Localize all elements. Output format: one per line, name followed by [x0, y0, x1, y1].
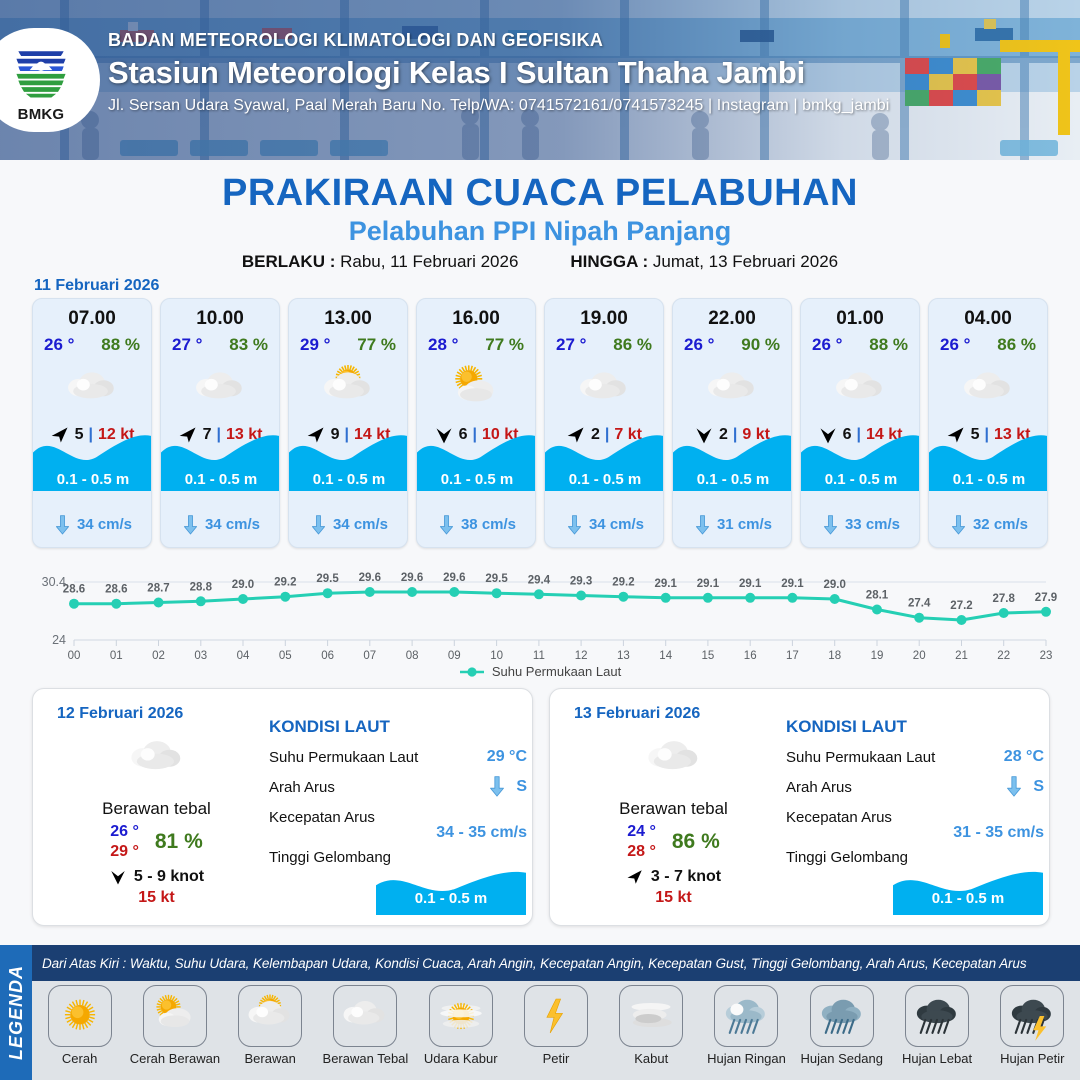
card-humidity: 88 %	[101, 335, 140, 355]
forecast-card: 13.00 29 ° 77 % 9 | 14 kt 0.1 - 0.5 m	[288, 298, 408, 548]
header-text-block: BADAN METEOROLOGI KLIMATOLOGI DAN GEOFIS…	[108, 30, 1068, 115]
legend-items-row: Cerah Cerah Berawan Berawan Berawan Teba…	[32, 985, 1080, 1066]
card-weather-icon-wrap	[673, 361, 791, 417]
chart-point-label: 29.5	[485, 573, 508, 585]
chart-point	[661, 593, 671, 603]
legend-side-label: LEGENDA	[6, 965, 27, 1060]
legend-item: Udara Kabur	[415, 985, 507, 1066]
bmkg-logo-text: BMKG	[5, 106, 77, 123]
chart-x-tick-label: 16	[744, 650, 757, 662]
card-current-speed: 34 cm/s	[589, 516, 644, 533]
summary-condition: Berawan tebal	[566, 799, 781, 819]
legend-icon-chip	[905, 985, 969, 1047]
card-current-speed: 38 cm/s	[461, 516, 516, 533]
chart-point	[999, 608, 1009, 618]
chart-point-label: 27.4	[908, 598, 931, 610]
summary-temp-max: 28 °	[627, 842, 656, 862]
card-time: 16.00	[417, 308, 535, 330]
berlaku-label: BERLAKU :	[242, 252, 336, 271]
current-direction-down-arrow-icon	[694, 515, 711, 535]
summary-weather-icon-wrap	[49, 731, 264, 787]
summary-current-dir-value: S	[1033, 778, 1044, 796]
card-temperature: 26 °	[44, 335, 74, 355]
chart-x-tick-label: 09	[448, 650, 461, 662]
card-humidity: 86 %	[613, 335, 652, 355]
summary-date: 12 Februari 2026	[57, 705, 183, 723]
summary-wave-value: 0.1 - 0.5 m	[893, 890, 1043, 907]
chart-x-tick-label: 13	[617, 650, 630, 662]
chart-x-tick-label: 10	[490, 650, 503, 662]
chart-point-label: 27.9	[1035, 592, 1057, 604]
berlaku-group: BERLAKU : Rabu, 11 Februari 2026	[242, 252, 519, 272]
hujan-petir-icon	[1006, 990, 1058, 1042]
chart-point	[830, 594, 840, 604]
chart-point-label: 29.4	[528, 574, 551, 586]
card-wave-height: 0.1 - 0.5 m	[929, 471, 1048, 488]
legend-item-label: Hujan Lebat	[891, 1051, 983, 1066]
card-current: 34 cm/s	[33, 515, 152, 535]
summary-current-dir-row: Arah Arus S	[269, 772, 527, 802]
summary-sst-row: Suhu Permukaan Laut 28 °C	[786, 742, 1044, 772]
card-weather-icon-wrap	[545, 361, 663, 417]
hingga-group: HINGGA : Jumat, 13 Februari 2026	[570, 252, 838, 272]
summary-sst-row: Suhu Permukaan Laut 29 °C	[269, 742, 527, 772]
hingga-value: Jumat, 13 Februari 2026	[653, 252, 838, 271]
day-summary-panel: 13 Februari 2026 Berawan tebal 24 ° 28 °…	[549, 688, 1050, 926]
chart-x-tick-label: 06	[321, 650, 334, 662]
chart-point-label: 29.0	[232, 579, 254, 591]
chart-point-label: 29.2	[274, 577, 296, 589]
berawan-tebal-icon	[63, 360, 121, 418]
chart-point	[576, 591, 586, 601]
chart-point	[154, 598, 164, 608]
current-direction-down-arrow-icon	[310, 515, 327, 535]
legend-icon-chip	[429, 985, 493, 1047]
summary-current-dir-value-wrap: S	[1005, 776, 1044, 798]
legend-item-label: Cerah	[34, 1051, 126, 1066]
chart-x-tick-label: 07	[363, 650, 376, 662]
card-weather-icon-wrap	[929, 361, 1047, 417]
kabut-icon	[625, 990, 677, 1042]
card-time: 01.00	[801, 308, 919, 330]
card-temp-humidity: 27 ° 86 %	[545, 335, 663, 355]
legend-side-banner: LEGENDA	[0, 945, 32, 1080]
berawan-tebal-icon	[126, 728, 188, 790]
card-wave-height: 0.1 - 0.5 m	[161, 471, 280, 488]
legend-item: Kabut	[605, 985, 697, 1066]
legend-item: Hujan Petir	[986, 985, 1078, 1066]
current-direction-down-arrow-icon	[54, 515, 71, 535]
summary-current-dir-value-wrap: S	[488, 776, 527, 798]
forecast-card: 19.00 27 ° 86 % 2 | 7 kt 0.1 - 0.5 m	[544, 298, 664, 548]
chart-legend-label: Suhu Permukaan Laut	[492, 664, 621, 679]
chart-x-tick-label: 12	[575, 650, 588, 662]
chart-point	[914, 613, 924, 623]
chart-x-tick-label: 03	[194, 650, 207, 662]
chart-x-tick-label: 23	[1040, 650, 1053, 662]
card-current: 34 cm/s	[161, 515, 280, 535]
chart-point	[196, 596, 206, 606]
chart-point	[492, 588, 502, 598]
chart-point	[69, 599, 79, 609]
chart-x-tick-label: 15	[702, 650, 715, 662]
summary-temps: 26 ° 29 °	[110, 822, 139, 861]
validity-row: BERLAKU : Rabu, 11 Februari 2026 HINGGA …	[0, 252, 1080, 272]
card-humidity: 77 %	[485, 335, 524, 355]
summary-current-speed-value: 31 - 35 cm/s	[953, 824, 1044, 841]
summary-temp-max: 29 °	[110, 842, 139, 862]
card-current-speed: 34 cm/s	[205, 516, 260, 533]
summary-current-speed-value-wrap: 31 - 35 cm/s	[786, 824, 1044, 842]
card-weather-icon-wrap	[289, 361, 407, 417]
page-header: BMKG BADAN METEOROLOGI KLIMATOLOGI DAN G…	[0, 0, 1080, 160]
chart-x-tick-label: 21	[955, 650, 968, 662]
station-address: Jl. Sersan Udara Syawal, Paal Merah Baru…	[108, 97, 1068, 115]
berawan-tebal-icon	[575, 360, 633, 418]
summary-sst-label: Suhu Permukaan Laut	[269, 749, 418, 766]
chart-x-tick-label: 19	[871, 650, 884, 662]
summary-temps: 24 ° 28 °	[627, 822, 656, 861]
legend-item-label: Petir	[510, 1051, 602, 1066]
card-humidity: 83 %	[229, 335, 268, 355]
forecast-card: 01.00 26 ° 88 % 6 | 14 kt 0.1 - 0.5 m	[800, 298, 920, 548]
bmkg-logo: BMKG	[0, 28, 100, 132]
legend-item: Hujan Lebat	[891, 985, 983, 1066]
chart-point-label: 29.1	[655, 578, 678, 590]
legend-item-label: Hujan Ringan	[700, 1051, 792, 1066]
legend-icon-chip	[143, 985, 207, 1047]
card-temperature: 29 °	[300, 335, 330, 355]
chart-point-label: 28.8	[190, 581, 213, 593]
summary-current-dir-label: Arah Arus	[269, 779, 335, 796]
summary-current-dir-value: S	[516, 778, 527, 796]
summary-temp-min: 24 °	[627, 822, 656, 842]
chart-point-label: 28.6	[63, 584, 85, 596]
card-current: 33 cm/s	[801, 515, 920, 535]
card-temp-humidity: 26 ° 86 %	[929, 335, 1047, 355]
summary-wind-range: 5 - 9 knot	[134, 868, 204, 886]
card-wave-height: 0.1 - 0.5 m	[289, 471, 408, 488]
card-wave-height: 0.1 - 0.5 m	[545, 471, 664, 488]
summary-weather-icon-wrap	[566, 731, 781, 787]
card-temperature: 26 °	[812, 335, 842, 355]
chart-series-line	[74, 592, 1046, 620]
chart-x-tick-label: 00	[68, 650, 81, 662]
agency-name: BADAN METEOROLOGI KLIMATOLOGI DAN GEOFIS…	[108, 30, 1068, 51]
chart-point	[534, 589, 544, 599]
card-current-speed: 31 cm/s	[717, 516, 772, 533]
card-wave-height: 0.1 - 0.5 m	[417, 471, 536, 488]
hujan-lebat-icon	[911, 990, 963, 1042]
hingga-label: HINGGA :	[570, 252, 648, 271]
summary-current-speed-value-wrap: 34 - 35 cm/s	[269, 824, 527, 842]
card-temp-humidity: 28 ° 77 %	[417, 335, 535, 355]
card-weather-icon-wrap	[801, 361, 919, 417]
summary-gust: 15 kt	[49, 889, 264, 907]
chart-point	[365, 587, 375, 597]
chart-point	[745, 593, 755, 603]
chart-point	[787, 593, 797, 603]
summary-current-speed-label: Kecepatan Arus	[786, 809, 892, 826]
legend-item-label: Hujan Sedang	[796, 1051, 888, 1066]
summary-sea-block: KONDISI LAUT Suhu Permukaan Laut 28 °C A…	[786, 717, 1044, 872]
chart-x-tick-label: 01	[110, 650, 123, 662]
summary-current-speed-label: Kecepatan Arus	[269, 809, 375, 826]
forecast-date-label: 11 Februari 2026	[34, 277, 159, 295]
cerah-berawan-icon	[447, 360, 505, 418]
summary-wind: 3 - 7 knot	[566, 868, 781, 886]
chart-x-tick-label: 08	[406, 650, 419, 662]
current-direction-down-arrow-icon	[488, 776, 506, 798]
chart-point	[957, 615, 967, 625]
chart-point-label: 29.6	[401, 572, 423, 584]
summary-temp-min: 26 °	[110, 822, 139, 842]
berawan-icon	[244, 990, 296, 1042]
legend-item-label: Hujan Petir	[986, 1051, 1078, 1066]
legend-icon-chip	[524, 985, 588, 1047]
summary-sst-value: 29 °C	[487, 748, 527, 766]
legend-section: LEGENDA Dari Atas Kiri : Waktu, Suhu Uda…	[0, 945, 1080, 1080]
chart-x-tick-label: 22	[997, 650, 1010, 662]
chart-point-label: 27.2	[950, 600, 972, 612]
card-time: 04.00	[929, 308, 1047, 330]
card-current: 32 cm/s	[929, 515, 1048, 535]
card-time: 19.00	[545, 308, 663, 330]
summary-current-dir-row: Arah Arus S	[786, 772, 1044, 802]
card-humidity: 77 %	[357, 335, 396, 355]
current-direction-down-arrow-icon	[182, 515, 199, 535]
legend-note: Dari Atas Kiri : Waktu, Suhu Udara, Kele…	[32, 945, 1080, 981]
card-current: 34 cm/s	[545, 515, 664, 535]
station-name: Stasiun Meteorologi Kelas I Sultan Thaha…	[108, 55, 1068, 91]
wind-direction-arrow-ne-icon	[626, 868, 644, 886]
card-temp-humidity: 26 ° 90 %	[673, 335, 791, 355]
chart-legend: Suhu Permukaan Laut	[0, 664, 1080, 679]
current-direction-down-arrow-icon	[438, 515, 455, 535]
card-temp-humidity: 26 ° 88 %	[33, 335, 151, 355]
legend-item: Petir	[510, 985, 602, 1066]
chart-point-label: 29.5	[316, 573, 339, 585]
summary-wave-value: 0.1 - 0.5 m	[376, 890, 526, 907]
summary-wind: 5 - 9 knot	[49, 868, 264, 886]
legend-icon-chip	[714, 985, 778, 1047]
card-humidity: 86 %	[997, 335, 1036, 355]
chart-x-tick-label: 11	[533, 650, 545, 662]
card-temperature: 27 °	[556, 335, 586, 355]
chart-point	[407, 587, 417, 597]
current-direction-down-arrow-icon	[566, 515, 583, 535]
card-current-speed: 34 cm/s	[77, 516, 132, 533]
summary-current-speed-value: 34 - 35 cm/s	[436, 824, 527, 841]
summary-wind-range: 3 - 7 knot	[651, 868, 721, 886]
forecast-card: 07.00 26 ° 88 % 5 | 12 kt 0.1 - 0.5 m	[32, 298, 152, 548]
legend-marker-icon	[459, 666, 485, 678]
chart-point	[238, 594, 248, 604]
forecast-card-row: 07.00 26 ° 88 % 5 | 12 kt 0.1 - 0.5 m	[32, 298, 1050, 548]
chart-point-label: 29.1	[697, 578, 720, 590]
legend-icon-chip	[1000, 985, 1064, 1047]
chart-point-label: 29.1	[781, 578, 804, 590]
legend-icon-chip	[810, 985, 874, 1047]
summary-sea-title: KONDISI LAUT	[786, 717, 1044, 737]
summary-temp-humidity: 24 ° 28 ° 86 %	[566, 822, 781, 861]
summary-wave-label: Tinggi Gelombang	[786, 849, 908, 866]
berawan-tebal-icon	[191, 360, 249, 418]
summary-humidity: 86 %	[672, 830, 720, 854]
chart-point	[280, 592, 290, 602]
legend-icon-chip	[238, 985, 302, 1047]
card-current: 31 cm/s	[673, 515, 792, 535]
forecast-card: 16.00 28 ° 77 % 6 | 10 kt 0.1 - 0.5 m 38…	[416, 298, 536, 548]
chart-x-tick-label: 02	[152, 650, 165, 662]
card-humidity: 90 %	[741, 335, 780, 355]
legend-item: Cerah Berawan	[129, 985, 221, 1066]
summary-humidity: 81 %	[155, 830, 203, 854]
page-title: PRAKIRAAN CUACA PELABUHAN	[0, 172, 1080, 215]
chart-point-label: 29.3	[570, 576, 592, 588]
summary-condition: Berawan tebal	[49, 799, 264, 819]
card-weather-icon-wrap	[417, 361, 535, 417]
legend-item: Cerah	[34, 985, 126, 1066]
legend-item-label: Berawan	[224, 1051, 316, 1066]
card-time: 22.00	[673, 308, 791, 330]
summary-current-dir-label: Arah Arus	[786, 779, 852, 796]
day-summary-panel: 12 Februari 2026 Berawan tebal 26 ° 29 °…	[32, 688, 533, 926]
chart-point-label: 27.8	[993, 593, 1016, 605]
legend-icon-chip	[333, 985, 397, 1047]
forecast-card: 22.00 26 ° 90 % 2 | 9 kt 0.1 - 0.5 m	[672, 298, 792, 548]
cerah-berawan-icon	[149, 990, 201, 1042]
chart-point	[111, 599, 121, 609]
legend-item-label: Udara Kabur	[415, 1051, 507, 1066]
card-current-speed: 33 cm/s	[845, 516, 900, 533]
legend-item: Berawan	[224, 985, 316, 1066]
chart-x-tick-label: 18	[828, 650, 841, 662]
petir-icon	[530, 990, 582, 1042]
berawan-tebal-icon	[703, 360, 761, 418]
chart-point	[1041, 607, 1051, 617]
cerah-icon	[54, 990, 106, 1042]
berlaku-value: Rabu, 11 Februari 2026	[340, 252, 518, 271]
chart-x-tick-label: 20	[913, 650, 926, 662]
page-subtitle: Pelabuhan PPI Nipah Panjang	[0, 216, 1080, 247]
berawan-tebal-icon	[643, 728, 705, 790]
chart-point-label: 28.6	[105, 584, 127, 596]
legend-item: Hujan Ringan	[700, 985, 792, 1066]
chart-point	[703, 593, 713, 603]
chart-point	[323, 588, 333, 598]
chart-point-label: 28.7	[147, 583, 169, 595]
card-weather-icon-wrap	[33, 361, 151, 417]
current-direction-down-arrow-icon	[822, 515, 839, 535]
summary-date: 13 Februari 2026	[574, 705, 700, 723]
summary-sst-value: 28 °C	[1004, 748, 1044, 766]
card-temperature: 26 °	[684, 335, 714, 355]
legend-item-label: Kabut	[605, 1051, 697, 1066]
card-temperature: 27 °	[172, 335, 202, 355]
legend-icon-chip	[48, 985, 112, 1047]
card-temp-humidity: 29 ° 77 %	[289, 335, 407, 355]
card-temperature: 26 °	[940, 335, 970, 355]
card-time: 07.00	[33, 308, 151, 330]
day-summary-row: 12 Februari 2026 Berawan tebal 26 ° 29 °…	[32, 688, 1050, 926]
forecast-card: 10.00 27 ° 83 % 7 | 13 kt 0.1 - 0.5 m	[160, 298, 280, 548]
chart-point	[618, 592, 628, 602]
berawan-icon	[319, 360, 377, 418]
card-wave-height: 0.1 - 0.5 m	[673, 471, 792, 488]
card-current: 34 cm/s	[289, 515, 408, 535]
summary-wave-label: Tinggi Gelombang	[269, 849, 391, 866]
card-wave-height: 0.1 - 0.5 m	[33, 471, 152, 488]
chart-point-label: 29.2	[612, 577, 634, 589]
card-wave-height: 0.1 - 0.5 m	[801, 471, 920, 488]
card-current-speed: 34 cm/s	[333, 516, 388, 533]
card-humidity: 88 %	[869, 335, 908, 355]
chart-point	[449, 587, 459, 597]
legend-item: Hujan Sedang	[796, 985, 888, 1066]
current-direction-down-arrow-icon	[950, 515, 967, 535]
chart-point-label: 29.0	[824, 579, 846, 591]
summary-gust: 15 kt	[566, 889, 781, 907]
chart-y-tick-min: 24	[52, 633, 66, 647]
udara-kabur-icon	[435, 990, 487, 1042]
summary-sst-label: Suhu Permukaan Laut	[786, 749, 935, 766]
hujan-ringan-icon	[720, 990, 772, 1042]
current-direction-down-arrow-icon	[1005, 776, 1023, 798]
bmkg-emblem-icon	[5, 38, 77, 106]
chart-point-label: 28.1	[866, 590, 889, 602]
chart-x-tick-label: 04	[237, 650, 250, 662]
chart-point-label: 29.6	[359, 572, 381, 584]
card-temperature: 28 °	[428, 335, 458, 355]
berawan-tebal-icon	[959, 360, 1017, 418]
chart-point	[872, 605, 882, 615]
berawan-tebal-icon	[339, 990, 391, 1042]
card-temp-humidity: 26 ° 88 %	[801, 335, 919, 355]
summary-sea-title: KONDISI LAUT	[269, 717, 527, 737]
chart-point-label: 29.6	[443, 572, 465, 584]
wind-direction-arrow-s-icon	[109, 868, 127, 886]
summary-sea-block: KONDISI LAUT Suhu Permukaan Laut 29 °C A…	[269, 717, 527, 872]
summary-left-block: Berawan tebal 26 ° 29 ° 81 % 5 - 9 knot …	[49, 731, 264, 907]
card-weather-icon-wrap	[161, 361, 279, 417]
forecast-card: 04.00 26 ° 86 % 5 | 13 kt 0.1 - 0.5 m	[928, 298, 1048, 548]
card-current-speed: 32 cm/s	[973, 516, 1028, 533]
chart-x-tick-label: 05	[279, 650, 292, 662]
card-time: 13.00	[289, 308, 407, 330]
berawan-tebal-icon	[831, 360, 889, 418]
legend-item: Berawan Tebal	[319, 985, 411, 1066]
chart-x-tick-label: 17	[786, 650, 799, 662]
summary-temp-humidity: 26 ° 29 ° 81 %	[49, 822, 264, 861]
summary-left-block: Berawan tebal 24 ° 28 ° 86 % 3 - 7 knot …	[566, 731, 781, 907]
legend-item-label: Cerah Berawan	[129, 1051, 221, 1066]
card-temp-humidity: 27 ° 83 %	[161, 335, 279, 355]
hujan-sedang-icon	[816, 990, 868, 1042]
legend-item-label: Berawan Tebal	[319, 1051, 411, 1066]
chart-point-label: 29.1	[739, 578, 762, 590]
legend-icon-chip	[619, 985, 683, 1047]
chart-x-tick-label: 14	[659, 650, 672, 662]
card-current: 38 cm/s	[417, 515, 536, 535]
card-time: 10.00	[161, 308, 279, 330]
